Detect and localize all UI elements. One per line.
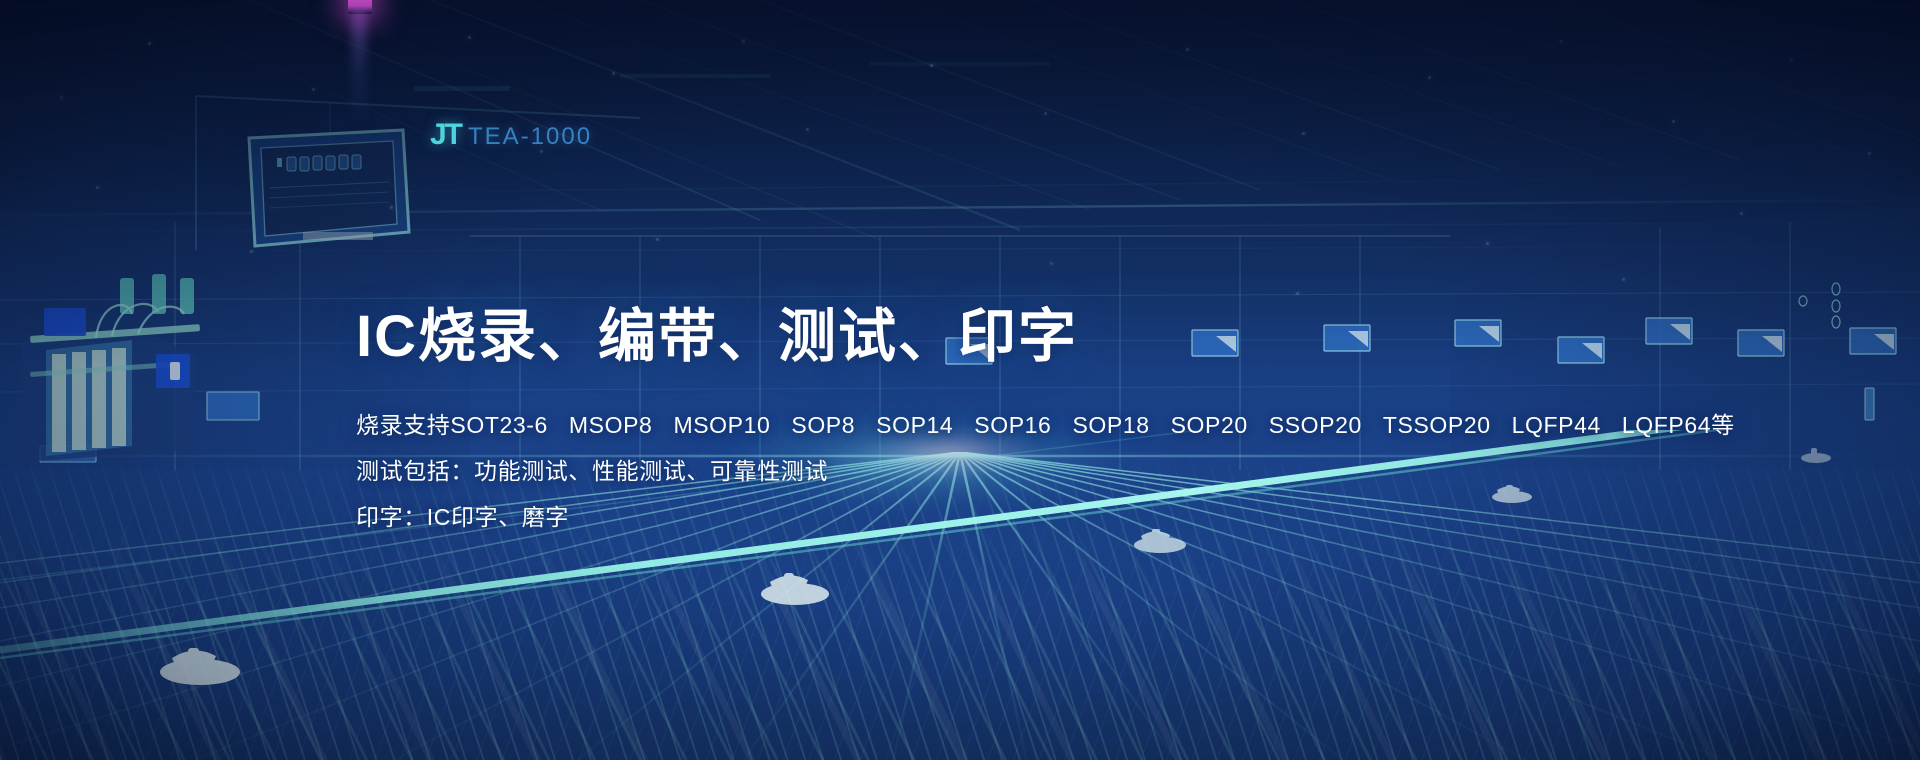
banner-content: IC烧录、编带、测试、印字 烧录支持SOT23-6MSOP8MSOP10SOP8… [356, 300, 1606, 540]
package-tssop20: TSSOP20 [1383, 402, 1491, 448]
package-sop16: SOP16 [974, 402, 1051, 448]
package-sop18: SOP18 [1072, 402, 1149, 448]
package-sop14: SOP14 [876, 402, 953, 448]
ceiling-light-icon [348, 0, 372, 14]
packages-line: 烧录支持SOT23-6MSOP8MSOP10SOP8SOP14SOP16SOP1… [356, 402, 1606, 448]
package-sop8: SOP8 [791, 402, 855, 448]
package-lqfp44: LQFP44 [1512, 402, 1601, 448]
marking-line: 印字：IC印字、磨字 [356, 494, 1606, 540]
package-ssop20: SSOP20 [1269, 402, 1362, 448]
hero-banner: JT TEA-1000 [0, 0, 1920, 760]
package-sop20: SOP20 [1171, 402, 1248, 448]
equipment-model-text: TEA-1000 [468, 123, 592, 151]
package-msop8: MSOP8 [569, 402, 653, 448]
equipment-brand: JT TEA-1000 [430, 118, 592, 152]
package-msop10: MSOP10 [673, 402, 770, 448]
page-title: IC烧录、编带、测试、印字 [356, 300, 1606, 374]
ceiling-light-beam [352, 8, 366, 128]
burn-support-prefix: 烧录支持SOT23-6 [356, 402, 548, 448]
package-lqfp64: LQFP64等 [1622, 402, 1735, 448]
testing-line: 测试包括：功能测试、性能测试、可靠性测试 [356, 448, 1606, 494]
equipment-logo-text: JT [430, 118, 461, 152]
